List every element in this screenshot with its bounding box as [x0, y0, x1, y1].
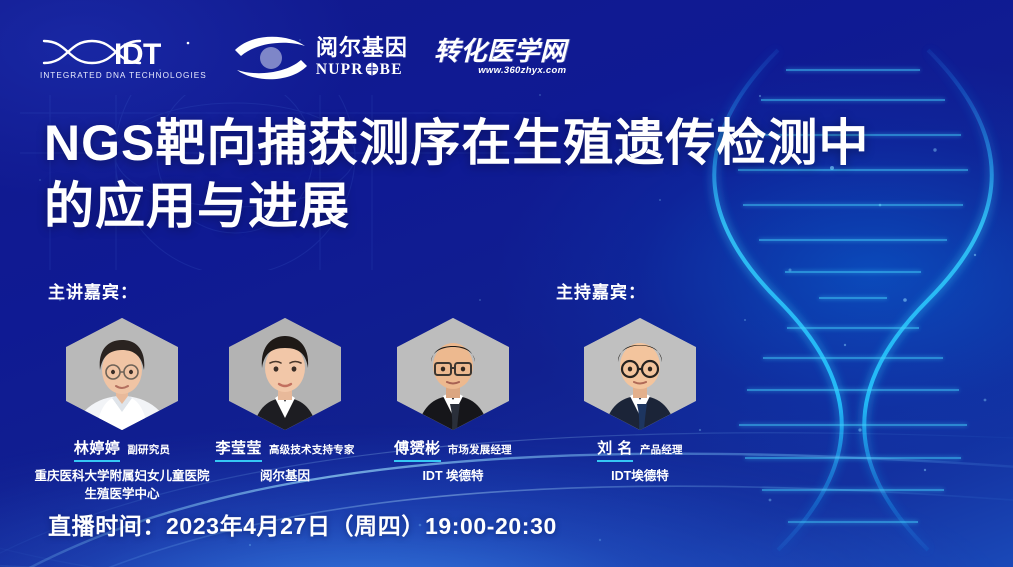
speaker-org-line-1: IDT 埃德特 — [358, 467, 548, 485]
speaker-role: 市场发展经理 — [448, 442, 512, 457]
avatar — [229, 318, 341, 430]
nuprobe-chinese-name: 阅尔基因 — [316, 36, 408, 59]
nuprobe-english-name: NUPR BE — [316, 61, 403, 78]
host-org-line-1: IDT埃德特 — [545, 467, 735, 485]
zhyx-logo: 转化医学网 www.360zhyx.com — [434, 28, 567, 86]
webinar-poster: IDT INTEGRATED DNA TECHNOLOGIES 阅尔基因 NUP… — [0, 0, 1013, 567]
zhyx-chinese-name: 转化医学网 — [434, 38, 567, 64]
logo-row: IDT INTEGRATED DNA TECHNOLOGIES 阅尔基因 NUP… — [38, 28, 566, 86]
nuprobe-logo: 阅尔基因 NUPR BE — [233, 28, 408, 86]
avatar — [397, 318, 509, 430]
live-time-text: 直播时间：2023年4月27日（周四）19:00-20:30 — [48, 507, 557, 541]
speakers-section-label: 主讲嘉宾： — [48, 278, 138, 303]
speaker-org-line-1: 阅尔基因 — [190, 467, 380, 485]
host-name: 刘 名 — [597, 437, 633, 462]
idt-logo: IDT INTEGRATED DNA TECHNOLOGIES — [38, 28, 207, 86]
idt-wordmark: IDT — [38, 35, 194, 69]
globe-icon — [365, 62, 379, 76]
portrait-photo — [584, 318, 696, 430]
speaker-role: 副研究员 — [127, 442, 170, 457]
speaker-card: 李莹莹 高级技术支持专家 阅尔基因 — [190, 318, 380, 485]
host-org: IDT埃德特 — [545, 467, 735, 485]
title-line-2: 的应用与进展 — [44, 175, 984, 238]
nuprobe-english-right: BE — [380, 61, 403, 78]
speaker-card: 林婷婷 副研究员 重庆医科大学附属妇女儿童医院 生殖医学中心 — [27, 318, 217, 503]
portrait-photo — [397, 318, 509, 430]
speaker-name: 傅赟彬 — [394, 437, 441, 462]
host-role: 产品经理 — [640, 442, 683, 457]
portrait-photo — [66, 318, 178, 430]
portrait-photo — [229, 318, 341, 430]
host-card: 刘 名 产品经理 IDT埃德特 — [545, 318, 735, 485]
avatar — [66, 318, 178, 430]
speaker-org: 阅尔基因 — [190, 467, 380, 485]
avatar — [584, 318, 696, 430]
people-row: 林婷婷 副研究员 重庆医科大学附属妇女儿童医院 生殖医学中心 — [0, 318, 1013, 498]
speaker-card: 傅赟彬 市场发展经理 IDT 埃德特 — [358, 318, 548, 485]
speaker-org: IDT 埃德特 — [358, 467, 548, 485]
idt-tagline: INTEGRATED DNA TECHNOLOGIES — [40, 71, 207, 80]
host-section-label: 主持嘉宾： — [556, 278, 646, 303]
eye-swirl-icon — [233, 34, 309, 80]
nuprobe-english-left: NUPR — [316, 61, 364, 78]
speaker-org-line-2: 生殖医学中心 — [5, 485, 239, 503]
poster-title: NGS靶向捕获测序在生殖遗传检测中 的应用与进展 — [44, 112, 984, 238]
speaker-name: 林婷婷 — [74, 437, 121, 462]
svg-text:IDT: IDT — [114, 38, 161, 69]
speaker-role: 高级技术支持专家 — [269, 442, 355, 457]
speaker-name: 李莹莹 — [215, 437, 262, 462]
title-line-1: NGS靶向捕获测序在生殖遗传检测中 — [44, 112, 984, 175]
zhyx-url: www.360zhyx.com — [478, 65, 566, 76]
